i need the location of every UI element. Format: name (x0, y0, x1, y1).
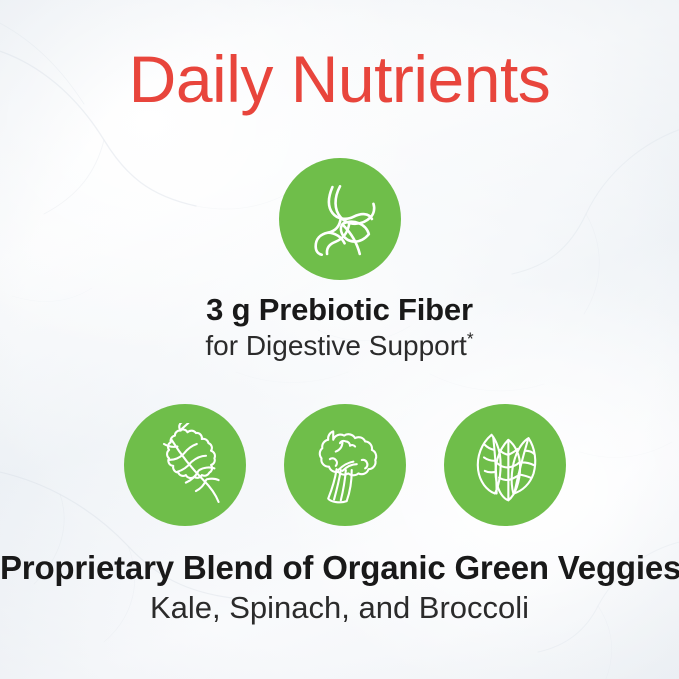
veggie-blend-headline: Proprietary Blend of Organic Green Veggi… (0, 548, 679, 588)
kale-icon (143, 423, 227, 507)
spinach-icon (463, 423, 547, 507)
broccoli-icon-badge (284, 404, 406, 526)
footnote-asterisk: * (467, 329, 474, 349)
veggie-blend-text: Proprietary Blend of Organic Green Veggi… (0, 548, 679, 628)
page-title: Daily Nutrients (0, 46, 679, 112)
fiber-claim-headline: 3 g Prebiotic Fiber (0, 292, 679, 328)
kale-icon-badge (124, 404, 246, 526)
digestive-leaf-icon (302, 181, 378, 257)
daily-nutrients-panel: Daily Nutrients 3 g Prebiotic Fiber (0, 0, 679, 679)
fiber-claim-subline-text: for Digestive Support (205, 330, 466, 361)
spinach-icon-badge (444, 404, 566, 526)
fiber-icon-badge (279, 158, 401, 280)
broccoli-icon (303, 423, 387, 507)
fiber-claim-text: 3 g Prebiotic Fiber for Digestive Suppor… (0, 292, 679, 364)
fiber-claim-subline: for Digestive Support* (0, 328, 679, 364)
veggie-blend-subline: Kale, Spinach, and Broccoli (0, 588, 679, 628)
